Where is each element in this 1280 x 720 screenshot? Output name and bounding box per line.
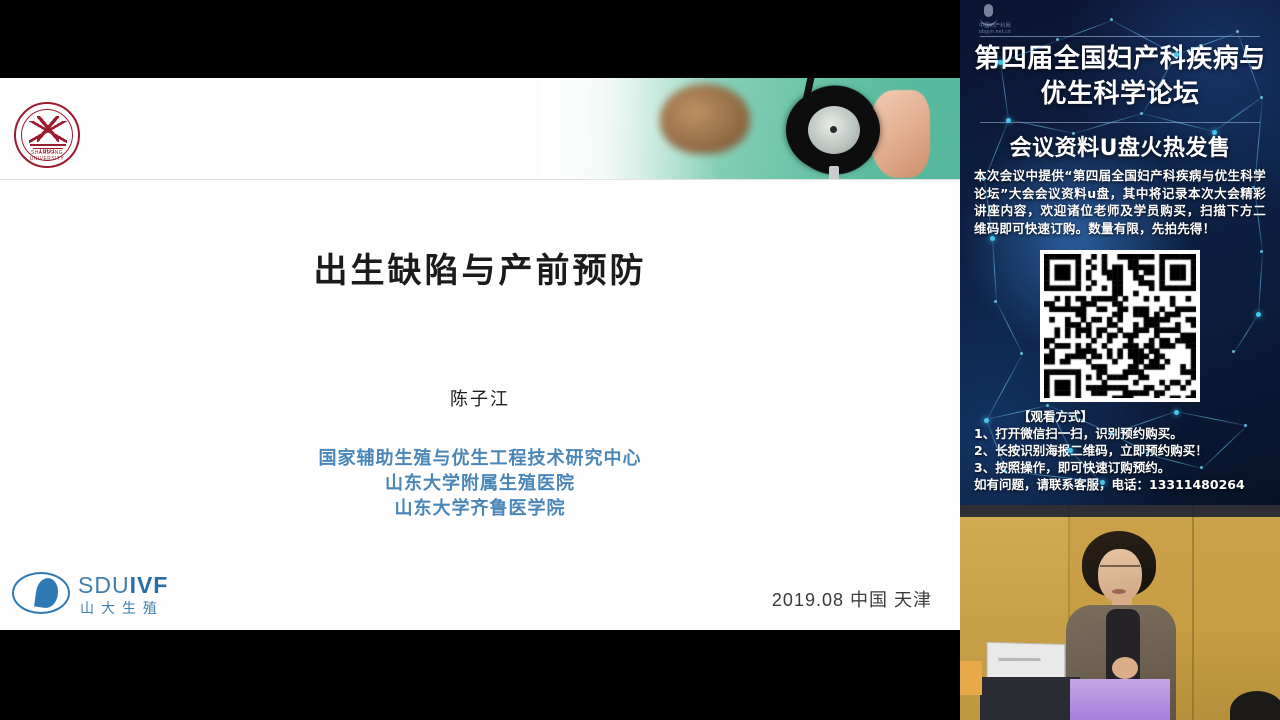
poster-divider-top: [980, 36, 1260, 37]
desk: [980, 677, 1080, 720]
speaker-hand: [1112, 657, 1138, 679]
qr-code-canvas: [1044, 254, 1196, 398]
decor-link: [992, 238, 997, 302]
poster-title: 第四届全国妇产科疾病与优生科学论坛: [966, 42, 1274, 112]
doctor-stethoscope-photo: [540, 78, 960, 180]
brand-logo-label: 中国妇产科网obgyn.net.cn: [966, 23, 1024, 35]
lectern: [1070, 679, 1170, 720]
header-divider: [0, 179, 960, 180]
speaker-video-feed[interactable]: [960, 505, 1280, 720]
right-panel: 中国妇产科网obgyn.net.cn 第四届全国妇产科疾病与优生科学论坛 会议资…: [960, 0, 1280, 720]
slide-affiliations: 国家辅助生殖与优生工程技术研究中心山东大学附属生殖医院山东大学齐鲁医学院: [0, 446, 960, 521]
emblem-wave-1: [30, 144, 66, 146]
emblem-mountain-shape-2: [37, 116, 59, 142]
speaker-face: [1098, 549, 1142, 603]
slide-header-band: 1901 SHANDONG UNIVERSITY: [0, 78, 960, 180]
decor-link: [1058, 20, 1112, 41]
audience-head: [1230, 691, 1280, 720]
shandong-university-emblem-icon: 1901 SHANDONG UNIVERSITY: [14, 102, 80, 168]
presentation-slide: 1901 SHANDONG UNIVERSITY 出生缺陷与产前预防 陈子江 国…: [0, 78, 960, 630]
slide-author: 陈子江: [0, 385, 960, 411]
obgyn-brand-logo-icon: 中国妇产科网obgyn.net.cn: [966, 4, 1024, 32]
slide-title: 出生缺陷与产前预防: [0, 243, 960, 292]
slide-date-location: 2019.08 中国 天津: [772, 586, 932, 612]
screen: 1901 SHANDONG UNIVERSITY 出生缺陷与产前预防 陈子江 国…: [0, 0, 1280, 720]
ivf-logo-wordmark: SDUIVF: [78, 572, 168, 599]
poster-subtitle: 会议资料U盘火热发售: [960, 130, 1280, 162]
speaker-glasses-icon: [1100, 565, 1140, 575]
stethoscope-stem: [829, 166, 839, 180]
slide-video-area[interactable]: 1901 SHANDONG UNIVERSITY 出生缺陷与产前预防 陈子江 国…: [0, 0, 960, 720]
decor-link: [1234, 314, 1259, 353]
watch-step: 2、长按识别海报二维码，立即预约购买！: [974, 442, 1274, 459]
decor-link: [1258, 252, 1263, 314]
poster-body-text: 本次会议中提供“第四届全国妇产科疾病与优生科学论坛”大会会议资料u盘，其中将记录…: [974, 167, 1266, 237]
ivf-logo-chinese-text: 山大生殖: [80, 598, 164, 618]
wall-seam-right: [1192, 505, 1194, 720]
laptop-screen-line: [998, 658, 1040, 661]
photo-hair: [660, 84, 750, 154]
emblem-arc-text: SHANDONG UNIVERSITY: [18, 150, 77, 162]
qr-code[interactable]: [1040, 250, 1200, 402]
video-top-shadow: [960, 505, 1280, 517]
support-contact-line: 如有问题，请联系客服，电话：13311480264: [974, 476, 1274, 493]
promo-poster[interactable]: 中国妇产科网obgyn.net.cn 第四届全国妇产科疾病与优生科学论坛 会议资…: [960, 0, 1280, 505]
name-card: [960, 661, 982, 695]
ivf-logo-ivf-text: IVF: [130, 572, 169, 598]
speaker-mouth: [1112, 589, 1126, 594]
sdu-ivf-logo: SDUIVF 山大生殖: [12, 570, 197, 616]
ivf-logo-sdu-text: SDU: [78, 572, 130, 598]
stethoscope-center-dot: [830, 126, 837, 133]
decor-link: [996, 302, 1023, 354]
